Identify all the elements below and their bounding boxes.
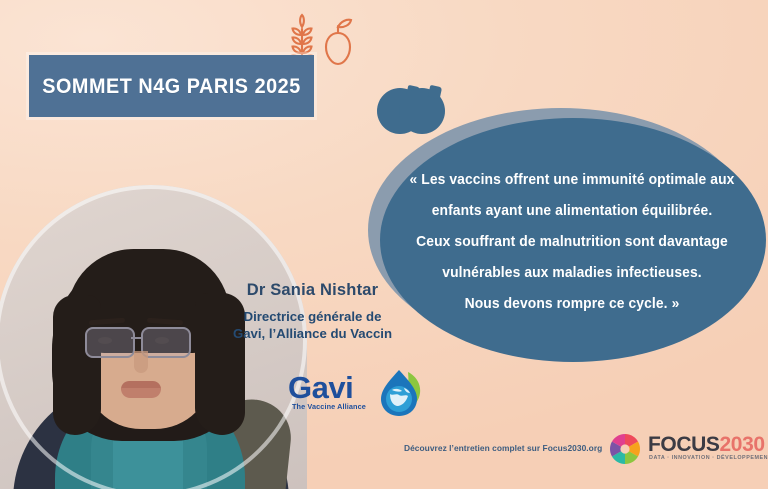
focus-word-accent: 2030 [720, 433, 765, 456]
focus2030-wordmark: FOCUS2030 [648, 433, 765, 457]
portrait-hair-left [53, 295, 101, 435]
glasses-lens-left-icon [85, 327, 135, 358]
quote-line: « Les vaccins offrent une immunité optim… [395, 165, 748, 196]
quote-mark-icon [399, 88, 445, 134]
quote-line: enfants ayant une alimentation équilibré… [395, 196, 748, 227]
speaker-role-line-2: Gavi, l’Alliance du Vaccin [215, 326, 410, 343]
title-banner: SOMMET N4G PARIS 2025 [29, 55, 314, 117]
glasses-lens-right-icon [141, 327, 191, 358]
quote-line: Nous devons rompre ce cycle. » [395, 289, 748, 320]
quote-line: Ceux souffrant de malnutrition sont dava… [395, 227, 748, 258]
footer-note: Découvrez l’entretien complet sur Focus2… [404, 443, 602, 453]
banner-title: SOMMET N4G PARIS 2025 [42, 74, 301, 99]
speaker-name: Dr Sania Nishtar [215, 281, 410, 300]
speaker-block: Dr Sania Nishtar Directrice générale de … [215, 281, 410, 342]
quote-line: vulnérables aux maladies infectieuses. [395, 258, 748, 289]
glasses-bridge-icon [131, 337, 143, 339]
portrait-lip-bottom [121, 388, 161, 398]
speaker-role-line-1: Directrice générale de [215, 309, 410, 326]
gavi-logo: Gavi The Vaccine Alliance [288, 368, 424, 422]
social-card: SOMMET N4G PARIS 2025 « Les vaccins offr… [0, 0, 768, 489]
focus2030-pinwheel-icon [608, 432, 642, 466]
gavi-wordmark: Gavi [288, 370, 353, 406]
portrait-nose [134, 351, 148, 373]
focus2030-logo: FOCUS2030 DATA · INNOVATION · DÉVELOPPEM… [608, 432, 752, 468]
quote-text: « Les vaccins offrent une immunité optim… [386, 165, 758, 320]
speaker-role: Directrice générale de Gavi, l’Alliance … [215, 309, 410, 342]
focus2030-tagline: DATA · INNOVATION · DÉVELOPPEMENT [649, 455, 768, 461]
focus-word-dark: FOCUS [648, 433, 720, 456]
gavi-droplet-globe-icon [378, 368, 424, 418]
gavi-tagline: The Vaccine Alliance [292, 402, 366, 411]
